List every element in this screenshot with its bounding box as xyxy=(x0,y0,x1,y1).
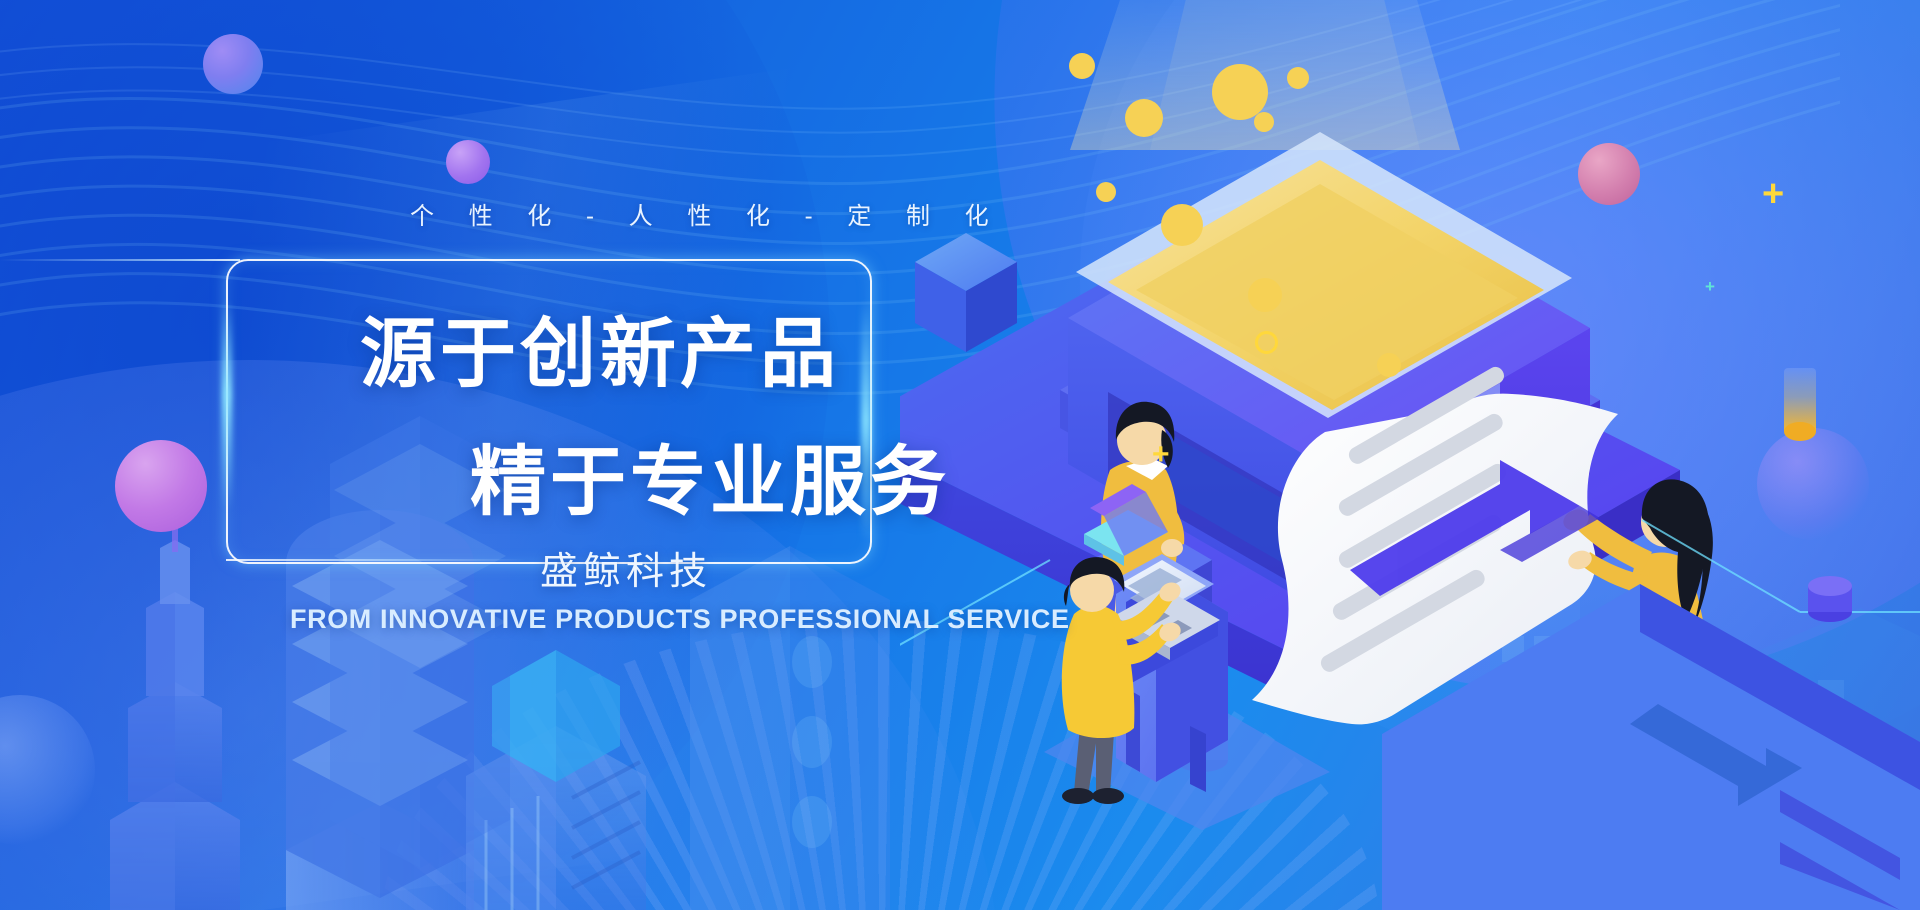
hero-text-block: 个 性 化 - 人 性 化 - 定 制 化 源于创新产品 精于专业服务 盛鲸科技… xyxy=(0,0,1100,910)
hero-headline-line-2: 精于专业服务 xyxy=(470,420,950,530)
company-name: 盛鲸科技 xyxy=(540,540,712,595)
hero-english-tagline: FROM INNOVATIVE PRODUCTS PROFESSIONAL SE… xyxy=(290,604,1070,635)
cyan-plus-icon: + xyxy=(1705,278,1715,295)
soft-glow-sphere-right xyxy=(1757,428,1869,540)
pink-sphere xyxy=(1578,143,1640,205)
gold-cylinder-prop xyxy=(1784,368,1816,432)
yellow-ring-icon xyxy=(1255,331,1278,354)
hero-banner: + + + 个 性 化 - 人 性 化 - 定 制 化 源于创新产品 精于专业服… xyxy=(0,0,1920,910)
small-cylinder-prop-2 xyxy=(1808,576,1852,622)
yellow-plus-icon-right: + xyxy=(1762,175,1784,213)
yellow-plus-icon-left: + xyxy=(1152,440,1170,470)
hero-headline-line-1: 源于创新产品 xyxy=(360,292,840,402)
hero-tagline: 个 性 化 - 人 性 化 - 定 制 化 xyxy=(410,196,1003,231)
